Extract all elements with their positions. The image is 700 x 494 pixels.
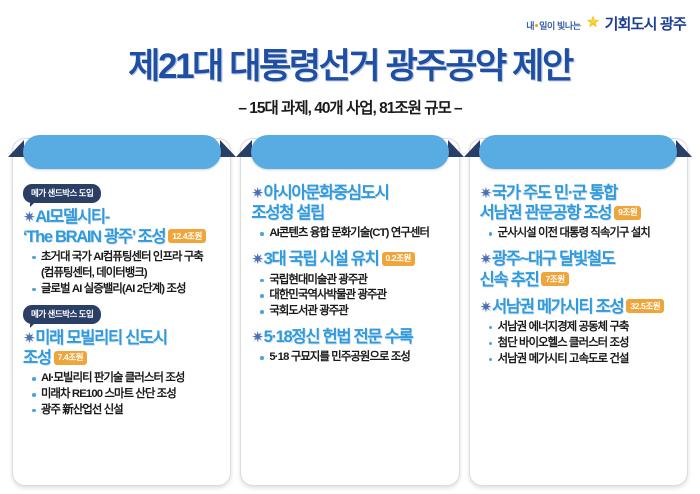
pledge-title: ✷서남권 메가시티 조성32.5조원 <box>480 297 677 317</box>
pledge-item: ✷아시아문화중심도시조성청 설립AI콘텐츠 융합 문화기술(CT) 연구센터 <box>251 183 448 242</box>
pledge-sub-item: 대한민국역사박물관 광주관 <box>260 288 448 304</box>
star-icon <box>585 14 601 30</box>
budget-badge: 7.4조원 <box>54 351 87 365</box>
columns-container: 메가 샌드박스 도입✷AI모델시티-‘The BRAIN 광주’ 조성12.4조… <box>12 138 688 486</box>
pledge-item: 메가 샌드박스 도입✷AI모델시티-‘The BRAIN 광주’ 조성12.4조… <box>23 183 220 297</box>
pledge-title-line: 미래 모빌리티 신도시 <box>35 329 167 347</box>
ribbon-tail-right-icon <box>676 140 692 157</box>
pledge-sub-item: 글로벌 AI 실증밸리(AI 2단계) 조성 <box>32 282 220 298</box>
pledge-sub-item: 초거대 국가 AI컴퓨팅센터 인프라 구축 <box>32 250 220 266</box>
page-subtitle: – 15대 과제, 40개 사업, 81조원 규모 – <box>0 96 700 118</box>
sandbox-tag: 메가 샌드박스 도입 <box>23 184 101 203</box>
growth-card: 메가 샌드박스 도입✷AI모델시티-‘The BRAIN 광주’ 조성12.4조… <box>12 138 231 486</box>
pledge-item: ✷광주~대구 달빛철도신속 추진7조원 <box>480 249 677 289</box>
asterisk-icon: ✷ <box>480 185 491 202</box>
pledge-sub-item: 군사시설 이전 대통령 직속기구 설치 <box>489 226 677 242</box>
pledge-sub-list: AI콘텐츠 융합 문화기술(CT) 연구센터 <box>260 226 448 242</box>
pledge-item: 메가 샌드박스 도입✷미래 모빌리티 신도시조성7.4조원AI·모빌리티 판기술… <box>23 304 220 418</box>
pledge-title-line: 광주~대구 달빛철도 <box>492 250 615 268</box>
pledge-sub-list: AI·모빌리티 판기술 클러스터 조성미래차 RE100 스마트 산단 조성광주… <box>32 371 220 418</box>
asterisk-icon: ✷ <box>480 251 491 268</box>
pledge-title-line: 3대 국립 시설 유치 <box>264 250 379 268</box>
pledge-item: ✷서남권 메가시티 조성32.5조원서남권 에너지경제 공동체 구축첨단 바이오… <box>480 297 677 368</box>
brand-dot-icon <box>535 24 538 27</box>
pledge-sub-list: 초거대 국가 AI컴퓨팅센터 인프라 구축(컴퓨팅센터, 데이터뱅크)글로벌 A… <box>32 250 220 297</box>
pledge-title-line: 아시아문화중심도시 <box>264 184 389 202</box>
pledge-sub-item: 서남권 메가시티 고속도로 건설 <box>489 352 677 368</box>
ribbon-tail-right-icon <box>220 140 236 157</box>
pledge-sub-item: 국회도서관 광주관 <box>260 304 448 320</box>
asterisk-icon: ✷ <box>251 329 262 346</box>
pledge-title: ✷5·18정신 헌법 전문 수록 <box>251 327 448 347</box>
brand-name: 기회도시 광주 <box>605 17 686 32</box>
pledge-sub-list: 국립현대미술관 광주관대한민국역사박물관 광주관국회도서관 광주관 <box>260 273 448 320</box>
pledge-title: ✷아시아문화중심도시조성청 설립 <box>251 183 448 223</box>
asterisk-icon: ✷ <box>251 185 262 202</box>
pledge-sub-item: AI콘텐츠 융합 문화기술(CT) 연구센터 <box>260 226 448 242</box>
pledge-title-line: 서남권 메가시티 조성 <box>492 298 624 316</box>
title-block: 제21대 대통령선거 광주공약 제안 – 15대 과제, 40개 사업, 81조… <box>0 48 700 118</box>
pledge-title-line: 신속 추진 <box>480 271 539 289</box>
pledge-sub-item: (컴퓨팅센터, 데이터뱅크) <box>32 266 220 282</box>
pledge-title-line: 5·18정신 헌법 전문 수록 <box>264 328 413 346</box>
asterisk-icon: ✷ <box>251 251 262 268</box>
pledge-sub-item: 서남권 에너지경제 공동체 구축 <box>489 320 677 336</box>
pledge-title-line: 국가 주도 민·군 통합 <box>492 184 617 202</box>
pledge-title-line: 서남권 관문공항 조성 <box>480 204 612 222</box>
page-title: 제21대 대통령선거 광주공약 제안 <box>0 48 700 86</box>
growth-card: ✷국가 주도 민·군 통합서남권 관문공항 조성9조원군사시설 이전 대통령 직… <box>469 138 688 486</box>
pledge-sub-item: 국립현대미술관 광주관 <box>260 273 448 289</box>
asterisk-icon: ✷ <box>480 299 491 316</box>
brand-logo: 내일이 빛나는 기회도시 광주 <box>526 14 686 32</box>
pledge-sub-list: 군사시설 이전 대통령 직속기구 설치 <box>489 226 677 242</box>
budget-badge: 7조원 <box>541 272 568 286</box>
pledge-item: ✷5·18정신 헌법 전문 수록5·18 구묘지를 민주공원으로 조성 <box>251 327 448 366</box>
card-header-ribbon <box>479 135 677 169</box>
ribbon-tail-left-icon <box>236 140 252 157</box>
brand-slogan-pre: 내 <box>526 21 534 31</box>
ribbon-body <box>23 135 221 169</box>
brand-slogan-post: 일이 빛나는 <box>539 21 581 31</box>
pledge-sub-item: 미래차 RE100 스마트 산단 조성 <box>32 387 220 403</box>
pledge-sub-item: 광주 新산업선 신설 <box>32 403 220 419</box>
ribbon-body <box>251 135 449 169</box>
pledge-title: ✷국가 주도 민·군 통합서남권 관문공항 조성9조원 <box>480 183 677 223</box>
card-header-ribbon <box>23 135 221 169</box>
budget-badge: 9조원 <box>614 206 641 220</box>
pledge-title: ✷광주~대구 달빛철도신속 추진7조원 <box>480 249 677 289</box>
pledge-title: ✷AI모델시티-‘The BRAIN 광주’ 조성12.4조원 <box>23 207 220 247</box>
brand-slogan: 내일이 빛나는 <box>526 22 580 32</box>
pledge-title-line: 조성청 설립 <box>251 204 324 222</box>
pledge-sub-item: 5·18 구묘지를 민주공원으로 조성 <box>260 350 448 366</box>
card-header-ribbon <box>251 135 449 169</box>
asterisk-icon: ✷ <box>23 330 34 347</box>
ribbon-tail-left-icon <box>464 140 480 157</box>
pledge-sub-item: 첨단 바이오헬스 클러스터 조성 <box>489 336 677 352</box>
pledge-title: ✷미래 모빌리티 신도시조성7.4조원 <box>23 328 220 368</box>
pledge-title: ✷3대 국립 시설 유치0.2조원 <box>251 249 448 269</box>
pledge-sub-list: 서남권 에너지경제 공동체 구축첨단 바이오헬스 클러스터 조성서남권 메가시티… <box>489 320 677 367</box>
budget-badge: 12.4조원 <box>168 229 206 243</box>
pledge-sub-item: AI·모빌리티 판기술 클러스터 조성 <box>32 371 220 387</box>
ribbon-tail-right-icon <box>448 140 464 157</box>
pledge-title-line: 조성 <box>23 349 51 367</box>
pledge-item: ✷3대 국립 시설 유치0.2조원국립현대미술관 광주관대한민국역사박물관 광주… <box>251 249 448 320</box>
ribbon-body <box>479 135 677 169</box>
budget-badge: 0.2조원 <box>382 252 415 266</box>
budget-badge: 32.5조원 <box>626 299 664 313</box>
pledge-sub-list: 5·18 구묘지를 민주공원으로 조성 <box>260 350 448 366</box>
pledge-item: ✷국가 주도 민·군 통합서남권 관문공항 조성9조원군사시설 이전 대통령 직… <box>480 183 677 242</box>
growth-card: ✷아시아문화중심도시조성청 설립AI콘텐츠 융합 문화기술(CT) 연구센터✷3… <box>240 138 459 486</box>
asterisk-icon: ✷ <box>23 209 34 226</box>
sandbox-tag: 메가 샌드박스 도입 <box>23 305 101 324</box>
pledge-title-line: AI모델시티- <box>35 208 109 226</box>
pledge-title-line: ‘The BRAIN 광주’ 조성 <box>23 228 165 246</box>
ribbon-tail-left-icon <box>8 140 24 157</box>
